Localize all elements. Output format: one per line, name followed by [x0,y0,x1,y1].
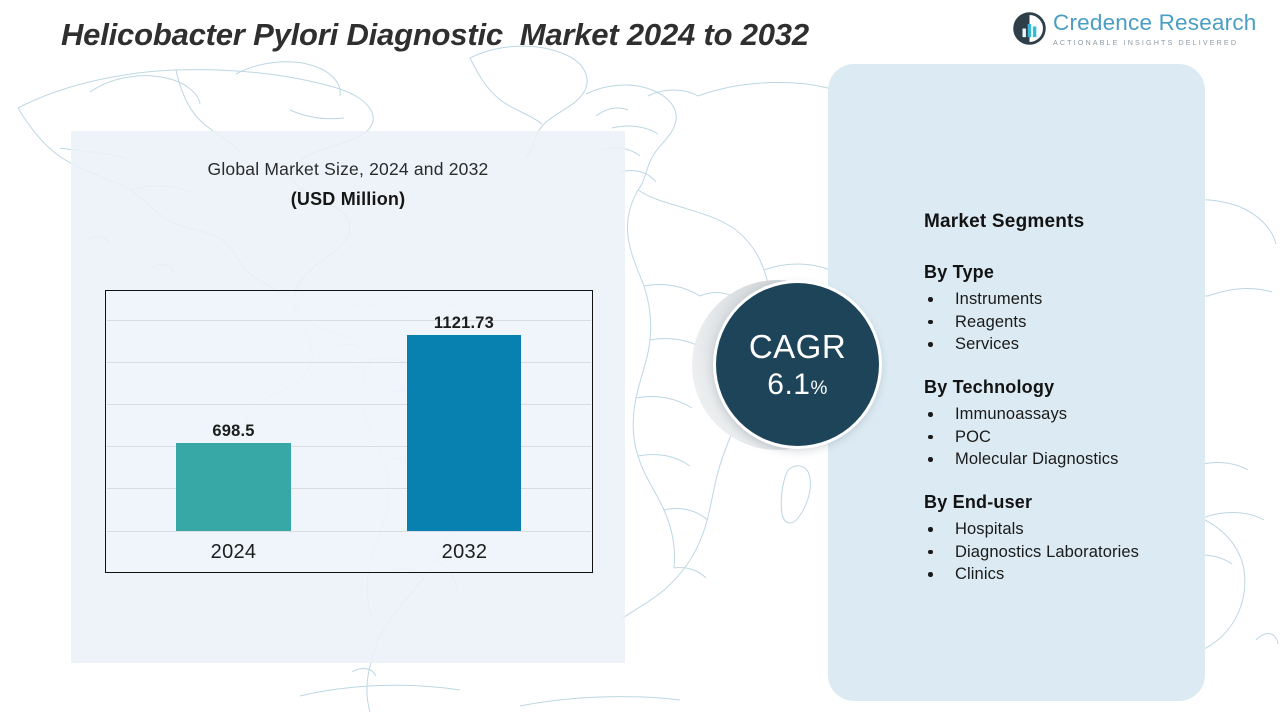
bullet-icon [928,412,933,417]
bullet-icon [928,342,933,347]
segment-group-by-type: By Type Instruments Reagents Services [924,262,1214,356]
list-item-label: Services [955,335,1019,353]
page-title: Helicobacter Pylori Diagnostic Market 20… [61,17,809,53]
segment-group-by-technology: By Technology Immunoassays POC Molecular… [924,377,1214,471]
chart-caption-line2: (USD Million) [71,189,625,210]
infographic-canvas: Helicobacter Pylori Diagnostic Market 20… [0,0,1280,720]
bar-2024[interactable] [176,443,291,531]
logo-name: Credence Research [1053,12,1257,35]
bullet-icon [928,527,933,532]
brand-logo: Credence Research Actionable Insights De… [1013,12,1257,46]
list-item[interactable]: Hospitals [924,518,1214,541]
bullet-icon [928,572,933,577]
list-item-label: Clinics [955,565,1004,583]
logo-tagline: Actionable Insights Delivered [1053,39,1257,46]
bar-2032[interactable] [407,335,521,531]
segment-item-list: Immunoassays POC Molecular Diagnostics [924,403,1214,471]
bar-value-2032: 1121.73 [395,314,533,333]
list-item[interactable]: Immunoassays [924,403,1214,426]
cagr-label: CAGR [749,330,846,363]
cagr-value-row: 6.1 % [767,370,827,400]
cagr-circle: CAGR 6.1 % [716,283,879,446]
category-label-2024: 2024 [166,541,301,564]
bullet-icon [928,550,933,555]
logo-text: Credence Research Actionable Insights De… [1053,12,1257,46]
bullet-icon [928,435,933,440]
list-item[interactable]: POC [924,426,1214,449]
list-item-label: Immunoassays [955,405,1067,423]
list-item[interactable]: Reagents [924,311,1214,334]
list-item-label: Reagents [955,313,1026,331]
list-item[interactable]: Instruments [924,288,1214,311]
list-item-label: Instruments [955,290,1042,308]
category-label-2032: 2032 [397,541,532,564]
list-item[interactable]: Diagnostics Laboratories [924,541,1214,564]
cagr-badge: CAGR 6.1 % [690,278,890,454]
bullet-icon [928,297,933,302]
list-item-label: POC [955,428,991,446]
chart-panel: Global Market Size, 2024 and 2032 (USD M… [71,131,625,663]
circular-bar-chart-icon [1013,12,1046,45]
segment-item-list: Instruments Reagents Services [924,288,1214,356]
segment-group-by-end-user: By End-user Hospitals Diagnostics Labora… [924,492,1214,586]
list-item-label: Molecular Diagnostics [955,450,1119,468]
bullet-icon [928,320,933,325]
bar-value-2024: 698.5 [176,422,291,441]
list-item[interactable]: Services [924,333,1214,356]
cagr-unit: % [811,379,828,398]
bullet-icon [928,457,933,462]
segment-group-heading: By End-user [924,492,1214,513]
list-item-label: Diagnostics Laboratories [955,543,1139,561]
segment-item-list: Hospitals Diagnostics Laboratories Clini… [924,518,1214,586]
list-item-label: Hospitals [955,520,1024,538]
segments-title: Market Segments [924,211,1084,233]
cagr-value: 6.1 [767,370,810,400]
list-item[interactable]: Clinics [924,563,1214,586]
list-item[interactable]: Molecular Diagnostics [924,448,1214,471]
gridline [107,531,591,532]
bar-chart: 698.5 1121.73 2024 2032 [105,290,593,573]
segment-group-heading: By Type [924,262,1214,283]
chart-caption-line1: Global Market Size, 2024 and 2032 [71,159,625,180]
segment-group-heading: By Technology [924,377,1214,398]
